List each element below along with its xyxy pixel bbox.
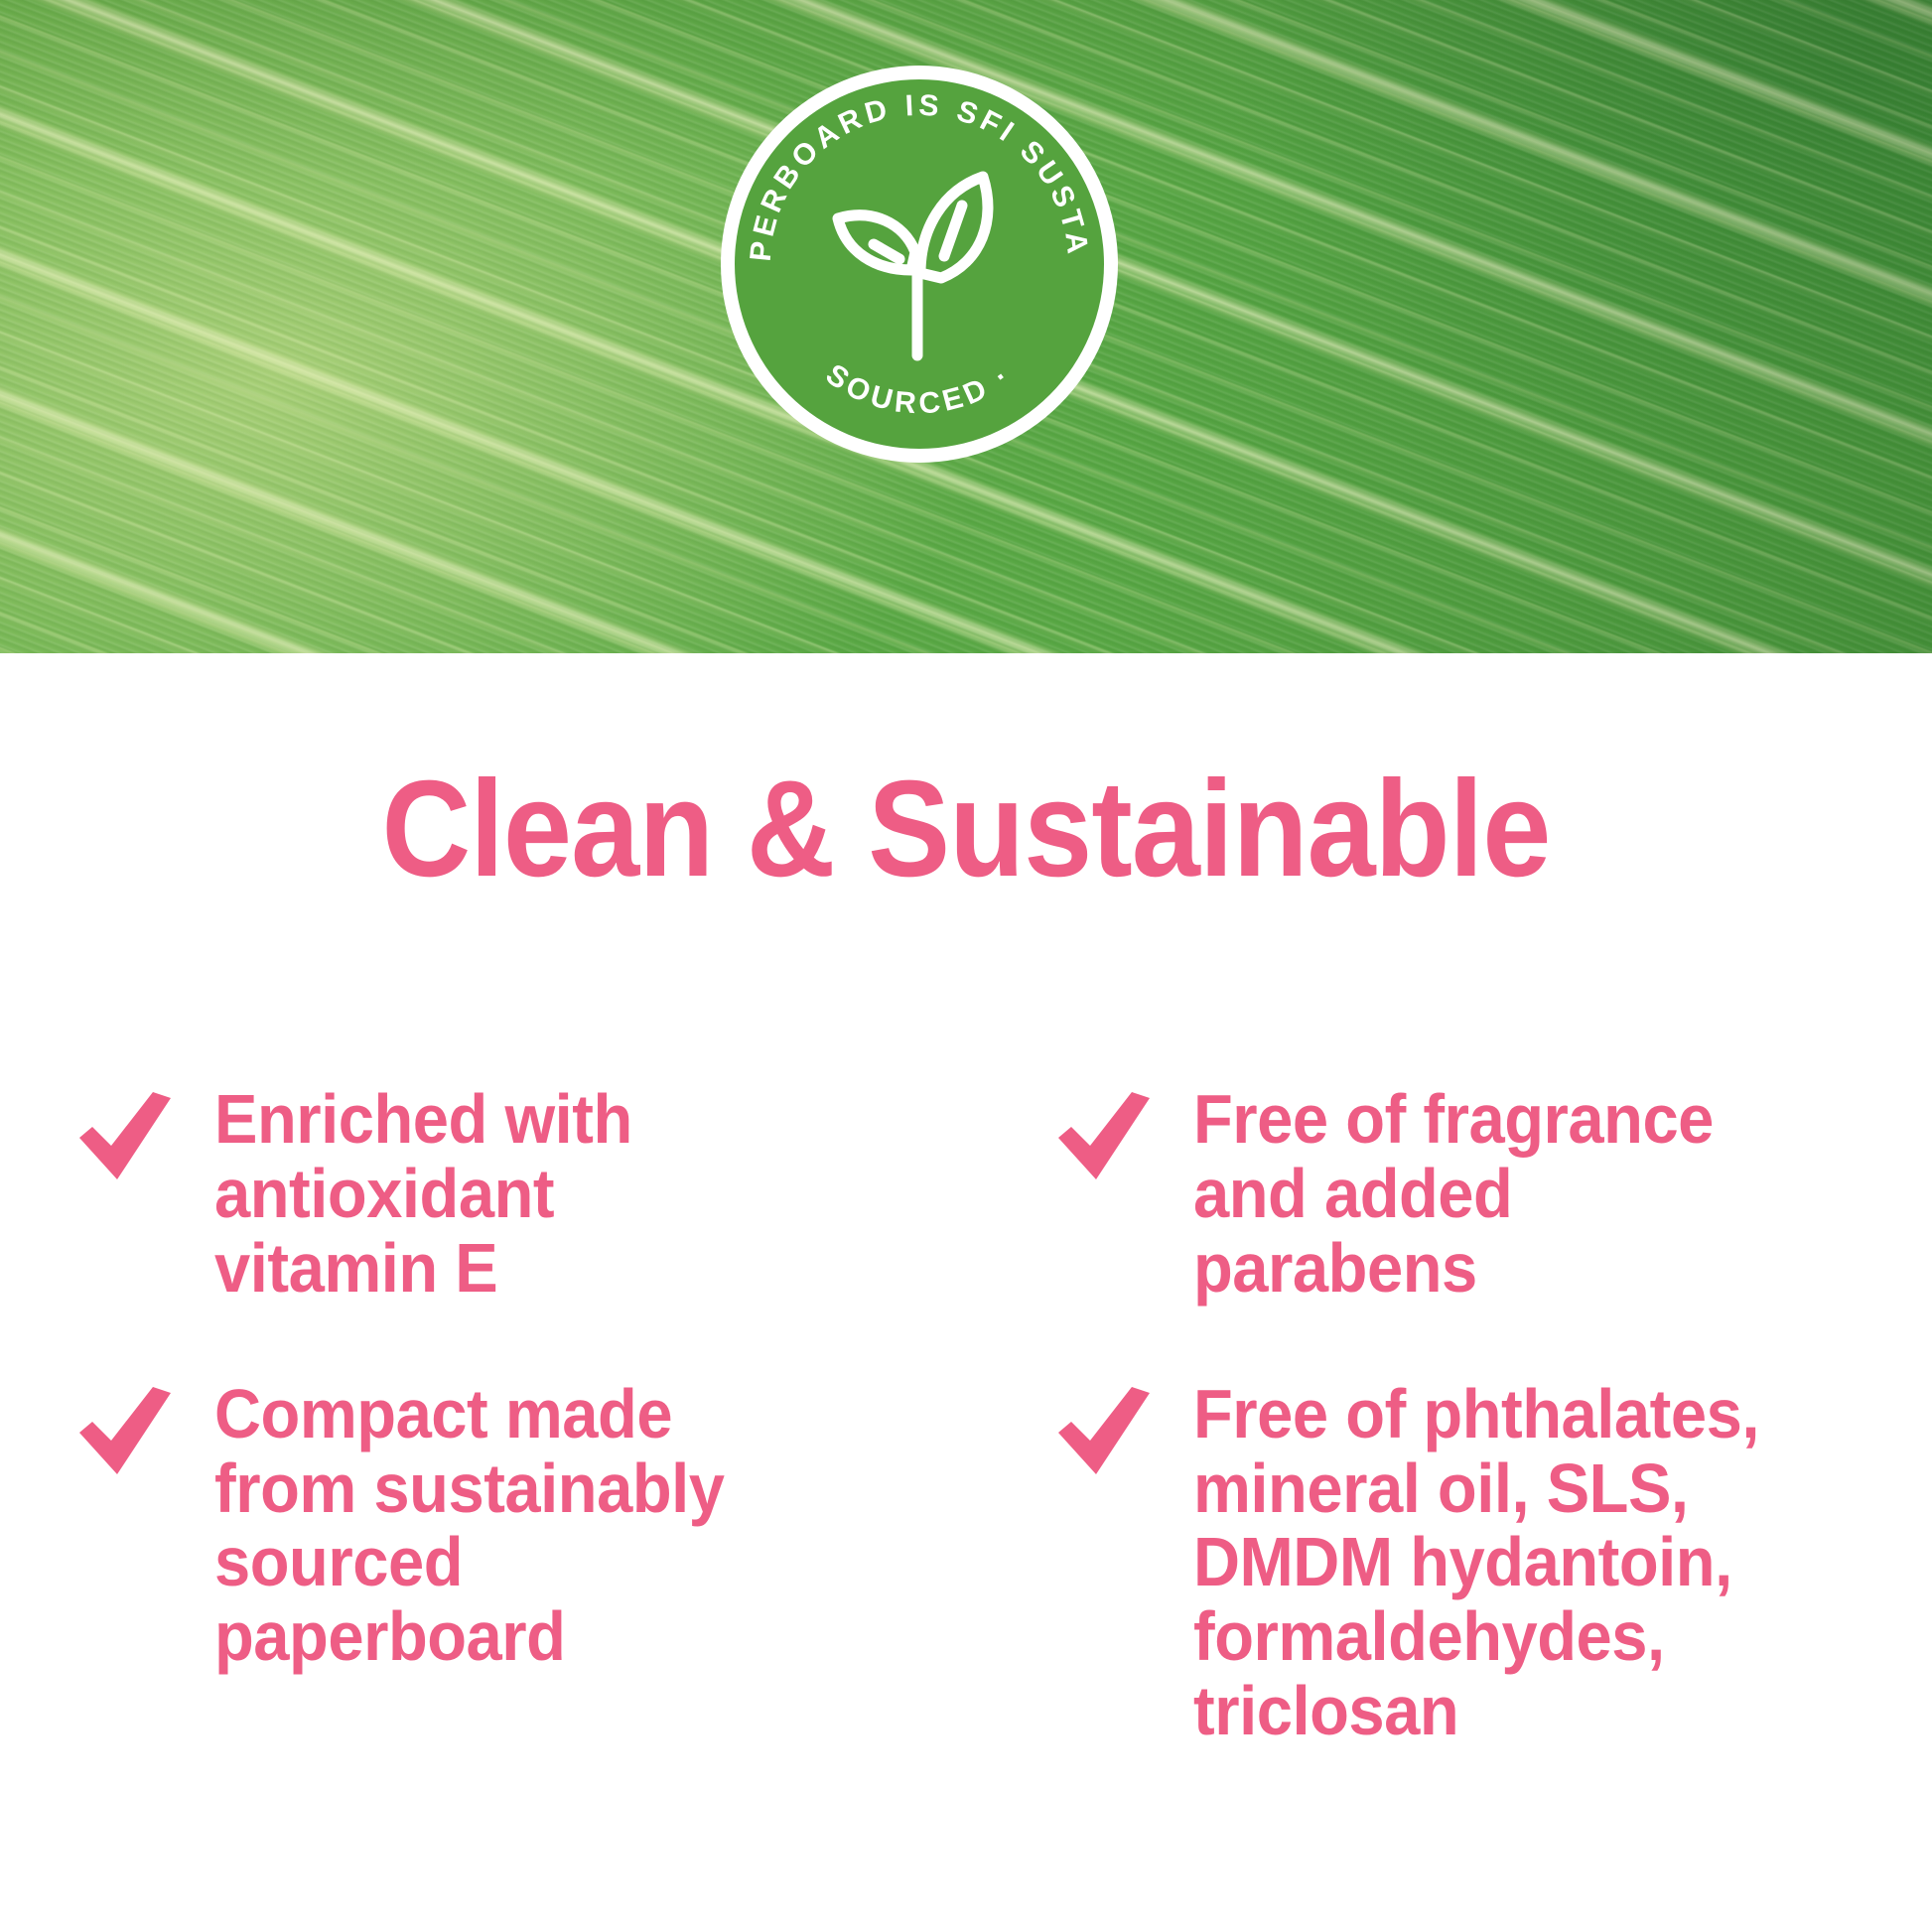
bullet-item-free-of-chemicals: Free of phthalates, mineral oil, SLS, DM… [1056, 1377, 1932, 1748]
product-infographic: ALL PAPERBOARD IS SFI SUSTAINABLY SOURCE… [0, 0, 1932, 1932]
bullet-text: Free of fragrance and added parabens [1193, 1082, 1714, 1306]
feature-bullet-grid: Enriched with antioxidant vitamin E Free… [0, 1082, 1932, 1748]
bullet-text: Enriched with antioxidant vitamin E [214, 1082, 632, 1306]
checkmark-icon [77, 1088, 173, 1183]
bullet-item-fragrance-free: Free of fragrance and added parabens [1056, 1082, 1932, 1306]
sfi-sustainability-badge: ALL PAPERBOARD IS SFI SUSTAINABLY SOURCE… [717, 62, 1122, 467]
bullet-item-vitamin-e: Enriched with antioxidant vitamin E [77, 1082, 1001, 1306]
checkmark-icon [77, 1383, 173, 1478]
checkmark-icon [1056, 1383, 1152, 1478]
page-title: Clean & Sustainable [96, 760, 1835, 897]
hero-leaf-banner: ALL PAPERBOARD IS SFI SUSTAINABLY SOURCE… [0, 0, 1932, 653]
bullet-text: Free of phthalates, mineral oil, SLS, DM… [1193, 1377, 1759, 1748]
checkmark-icon [1056, 1088, 1152, 1183]
bullet-item-paperboard: Compact made from sustainably sourced pa… [77, 1377, 1001, 1748]
bullet-text: Compact made from sustainably sourced pa… [214, 1377, 724, 1675]
